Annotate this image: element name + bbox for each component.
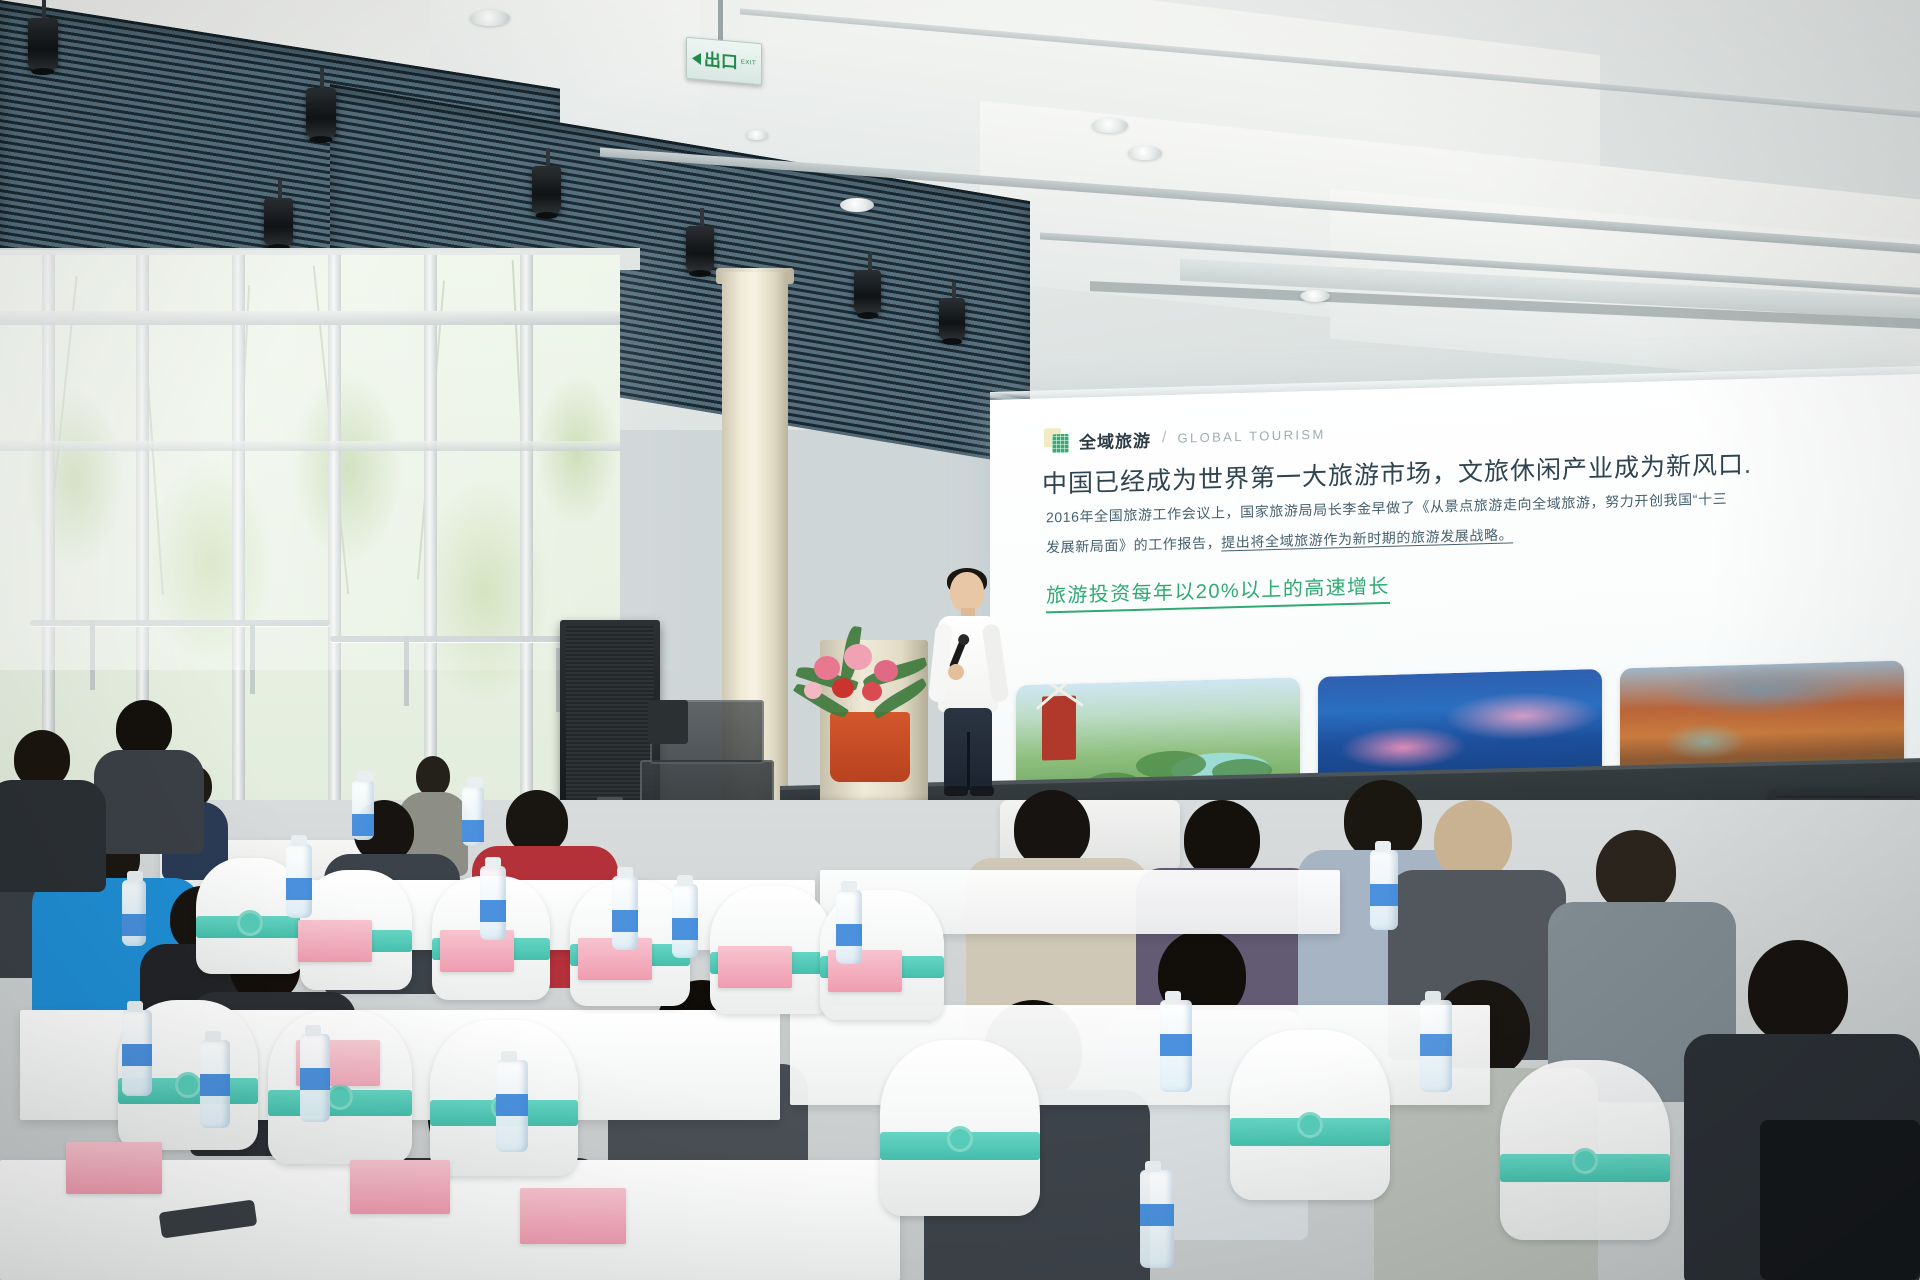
- water-bottle: [462, 786, 484, 846]
- guard-rail: [30, 620, 330, 626]
- emergency-exit-sign: 出口 EXIT: [686, 37, 762, 86]
- spotlight: [264, 198, 293, 246]
- pink-place-card: [718, 946, 792, 988]
- pink-place-card: [350, 1160, 450, 1214]
- spotlight: [532, 166, 561, 214]
- chair-sash: [268, 1090, 412, 1116]
- pink-place-card: [66, 1142, 162, 1194]
- water-bottle: [1160, 1000, 1192, 1092]
- recessed-light: [470, 10, 510, 26]
- spotlight: [306, 88, 336, 138]
- spotlight-arm: [868, 252, 872, 272]
- spotlight: [28, 18, 58, 70]
- recessed-light: [1092, 118, 1128, 133]
- spotlight: [686, 226, 714, 272]
- water-bottle: [480, 866, 506, 940]
- water-bottle: [122, 1010, 152, 1096]
- chair-sash: [880, 1132, 1040, 1160]
- slide-green-highlight: 旅游投资每年以20%以上的高速增长: [1046, 570, 1390, 614]
- slide-logo-en: GLOBAL TOURISM: [1177, 426, 1325, 445]
- photo-scene: 出口 EXIT 全域: [0, 0, 1920, 1280]
- seated-attendee: [0, 730, 96, 880]
- water-bottle: [612, 876, 638, 950]
- water-bottle: [1370, 850, 1398, 930]
- seated-attendee: [100, 700, 196, 840]
- slide-logo-cn: 全域旅游: [1079, 426, 1151, 453]
- recessed-light: [746, 130, 768, 140]
- spotlight-arm: [278, 180, 282, 200]
- slide-body-line-2-underlined: 提出将全域旅游作为新时期的旅游发展战略。: [1221, 526, 1513, 550]
- water-bottle: [496, 1060, 528, 1152]
- chair-sash: [196, 916, 304, 938]
- guard-rail-post: [404, 636, 409, 706]
- water-bottle: [352, 780, 374, 840]
- handbag: [1760, 1120, 1920, 1280]
- global-tourism-logo-icon: [1044, 428, 1070, 455]
- pink-place-card: [298, 920, 372, 962]
- spotlight-arm: [700, 208, 704, 228]
- pink-place-card: [520, 1188, 626, 1244]
- presenter-head: [950, 572, 984, 612]
- water-bottle: [122, 880, 146, 946]
- spotlight-arm: [320, 68, 324, 90]
- recessed-light: [840, 198, 874, 212]
- exit-sign-label: 出口: [704, 51, 738, 71]
- exit-sign-stem: [718, 0, 723, 42]
- recessed-light: [1128, 146, 1162, 160]
- left-arrow-icon: [692, 52, 701, 65]
- water-bottle: [286, 844, 312, 918]
- water-bottle: [1140, 1170, 1174, 1268]
- slide-body-line-2-plain: 发展新局面》的工作报告，: [1046, 534, 1221, 555]
- water-bottle: [672, 884, 698, 958]
- spotlight-arm: [546, 148, 550, 168]
- mic-stand-base: [648, 700, 688, 744]
- recessed-light: [1300, 290, 1330, 302]
- spotlight: [854, 270, 881, 314]
- flower-bouquet: [792, 620, 932, 760]
- guard-rail-post: [250, 624, 255, 694]
- exit-sign-sublabel: EXIT: [741, 59, 756, 66]
- presentation-screen: 全域旅游 / GLOBAL TOURISM 中国已经成为世界第一大旅游市场，文旅…: [990, 374, 1920, 820]
- chair-sash: [1230, 1118, 1390, 1146]
- spotlight: [939, 298, 965, 340]
- slide-logo-separator: /: [1162, 429, 1166, 447]
- guard-rail-post: [90, 620, 95, 690]
- water-bottle: [300, 1034, 330, 1122]
- presenter: [932, 572, 1004, 797]
- water-bottle: [1420, 1000, 1452, 1092]
- spotlight-arm: [42, 0, 46, 20]
- water-bottle: [836, 890, 862, 964]
- water-bottle: [200, 1040, 230, 1128]
- chair-sash: [1500, 1154, 1670, 1182]
